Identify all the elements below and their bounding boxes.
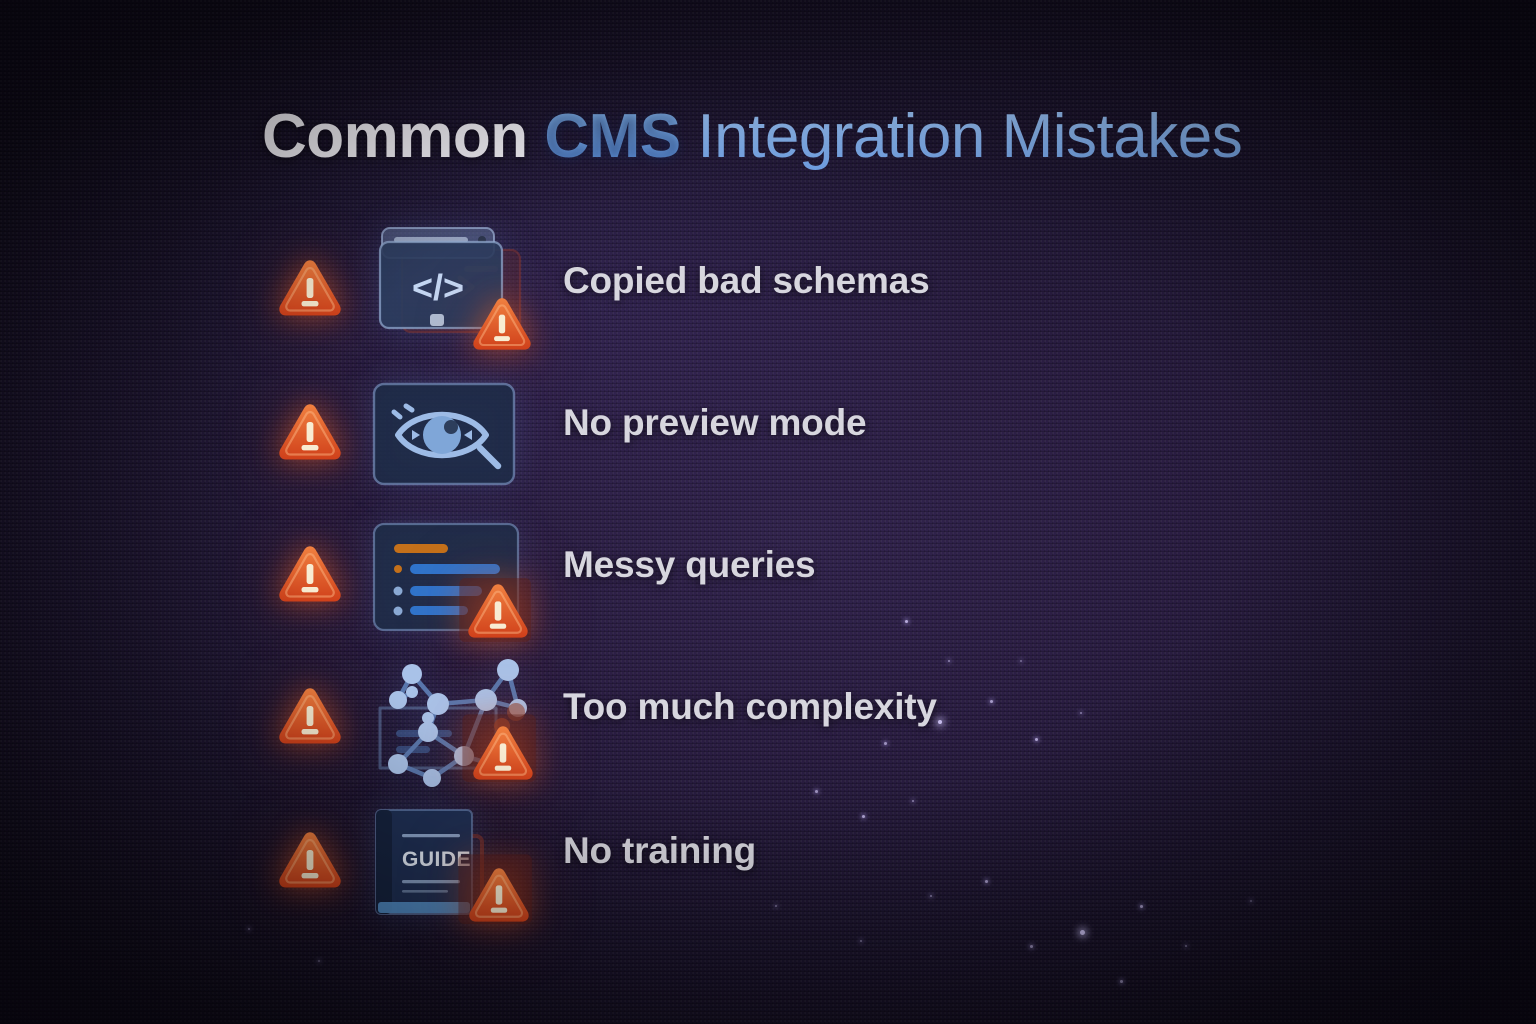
warning-triangle-icon xyxy=(276,258,344,318)
slide-canvas: Common CMS Integration Mistakes xyxy=(0,0,1536,1024)
list-item-label: Copied bad schemas xyxy=(563,260,930,302)
code-glyph: </> xyxy=(412,267,464,308)
warning-triangle-icon xyxy=(276,686,344,746)
list-item-label: Messy queries xyxy=(563,544,815,586)
eye-magnifier-icon xyxy=(368,378,534,502)
page-title: Common CMS Integration Mistakes xyxy=(262,104,1242,169)
warning-triangle-icon xyxy=(276,544,344,604)
list-item[interactable]: No preview mode xyxy=(0,378,1536,520)
list-item-label: No preview mode xyxy=(563,402,866,444)
warning-triangle-icon xyxy=(276,402,344,462)
warning-badge-icon xyxy=(470,296,534,352)
list-item-label: Too much complexity xyxy=(563,686,937,728)
list-item[interactable]: Messy queries xyxy=(0,520,1536,662)
list-item[interactable]: Too much complexity xyxy=(0,662,1536,804)
list-item[interactable]: </> Copied bad schemas xyxy=(0,236,1536,378)
title-word-common: Common xyxy=(262,102,528,171)
list-item[interactable]: GUIDE No training xyxy=(0,804,1536,946)
warning-triangle-icon xyxy=(276,830,344,890)
warning-badge-icon xyxy=(465,582,531,640)
warning-badge-icon xyxy=(466,866,532,924)
list-item-label: No training xyxy=(563,830,756,872)
warning-badge-icon xyxy=(470,724,536,782)
title-word-cms: CMS xyxy=(544,102,680,171)
title-word-rest: Integration Mistakes xyxy=(697,102,1242,171)
mistakes-list: </> Copied bad schemas xyxy=(0,236,1536,946)
